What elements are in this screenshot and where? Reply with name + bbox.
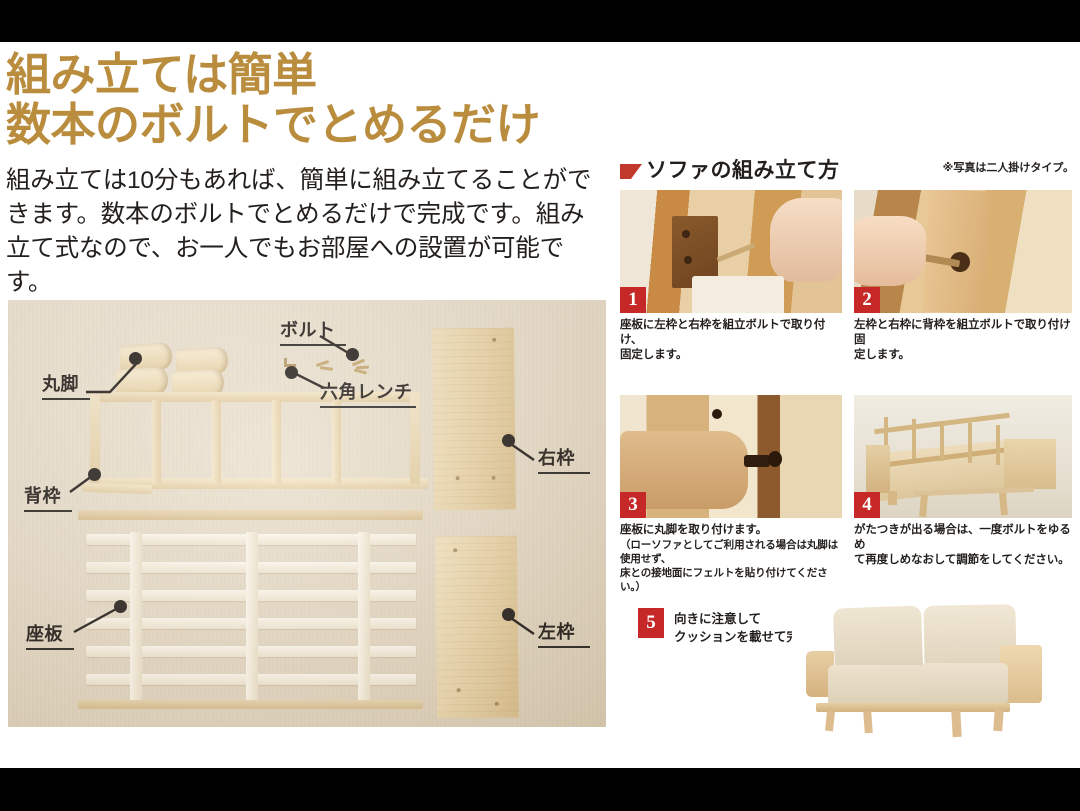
step-1-caption-line-1: 座板に左枠と右枠を組立ボルトで取り付け、 xyxy=(620,318,842,348)
step-2-caption-line-2: 定します。 xyxy=(854,348,1072,363)
step-1-badge: 1 xyxy=(620,287,646,313)
bolt-part xyxy=(354,368,367,374)
steps-section-note: ※写真は二人掛けタイプ。 xyxy=(943,159,1074,175)
assembly-step-2: 2 左枠と右枠に背枠を組立ボルトで取り付け固 定します。 xyxy=(854,190,1072,363)
step-2-caption-line-1: 左枠と右枠に背枠を組立ボルトで取り付け固 xyxy=(854,318,1072,348)
left-column: 組み立ては簡単 数本のボルトでとめるだけ 組み立ては10分もあれば、簡単に組み立… xyxy=(0,42,612,768)
step-4-caption-line-1: がたつきが出る場合は、一度ボルトをゆるめ xyxy=(854,523,1072,553)
step-1-caption: 座板に左枠と右枠を組立ボルトで取り付け、 固定します。 xyxy=(620,318,842,363)
step-2-photo: 2 xyxy=(854,190,1072,313)
callout-label-text: 背枠 xyxy=(24,486,61,506)
leader-dot-bolt xyxy=(346,348,359,361)
step-3-caption-note-line-1: （ローソファとしてご利用される場合は丸脚は使用せず、 xyxy=(620,538,842,566)
step-2-caption: 左枠と右枠に背枠を組立ボルトで取り付け固 定します。 xyxy=(854,318,1072,363)
assembly-step-4: 4 がたつきが出る場合は、一度ボルトをゆるめ て再度しめなおして調節をしてくださ… xyxy=(854,395,1072,568)
callout-label-text: 右枠 xyxy=(538,448,575,468)
leader-dot-left-frame xyxy=(502,608,515,621)
left-frame-part xyxy=(435,536,519,719)
callout-left-frame: 左枠 xyxy=(538,618,575,644)
callout-label-text: 左枠 xyxy=(538,622,575,642)
assembly-step-3: 3 座板に丸脚を取り付けます。 （ローソファとしてご利用される場合は丸脚は使用せ… xyxy=(620,395,842,594)
steps-section-title: ソファの組み立て方 xyxy=(620,154,840,184)
seat-board-part xyxy=(78,528,423,714)
leader-dot-seat-board xyxy=(114,600,127,613)
headline-line-1: 組み立ては簡単 xyxy=(6,50,317,100)
content-sheet: 組み立ては簡単 数本のボルトでとめるだけ 組み立ては10分もあれば、簡単に組み立… xyxy=(0,42,1080,768)
leader-dot-round-legs xyxy=(129,352,142,365)
step-3-photo: 3 xyxy=(620,395,842,518)
leader-line-hex-wrench xyxy=(292,372,332,394)
leader-dot-hex-wrench xyxy=(285,366,298,379)
step-4-photo: 4 xyxy=(854,395,1072,518)
triangle-down-icon xyxy=(620,164,642,179)
lead-paragraph: 組み立ては10分もあれば、簡単に組み立てることができます。数本のボルトでとめるだ… xyxy=(6,164,606,300)
step-2-badge: 2 xyxy=(854,287,880,313)
assembly-step-1: 1 座板に左枠と右枠を組立ボルトで取り付け、 固定します。 xyxy=(620,190,842,363)
leader-dot-right-frame xyxy=(502,434,515,447)
step-3-caption-line-1: 座板に丸脚を取り付けます。 xyxy=(620,523,842,538)
callout-label-text: 六角レンチ xyxy=(320,382,413,402)
step-3-badge: 3 xyxy=(620,492,646,518)
step-4-caption-line-2: て再度しめなおして調節をしてください。 xyxy=(854,553,1072,568)
callout-label-text: 座板 xyxy=(26,624,63,644)
step-4-caption: がたつきが出る場合は、一度ボルトをゆるめ て再度しめなおして調節をしてください。 xyxy=(854,523,1072,568)
assembly-instruction-page: 組み立ては簡単 数本のボルトでとめるだけ 組み立ては10分もあれば、簡単に組み立… xyxy=(0,0,1080,811)
step-1-caption-line-2: 固定します。 xyxy=(620,348,842,363)
exploded-parts-photo: 丸脚 ボルト 六角レンチ xyxy=(8,300,606,727)
steps-section-title-text: ソファの組み立て方 xyxy=(646,159,840,182)
callout-hex-wrench: 六角レンチ xyxy=(320,378,413,404)
callout-right-frame: 右枠 xyxy=(538,444,575,470)
leader-dot-back-frame xyxy=(88,468,101,481)
letterbox-top xyxy=(0,0,1080,42)
letterbox-bottom xyxy=(0,768,1080,811)
step-3-caption: 座板に丸脚を取り付けます。 （ローソファとしてご利用される場合は丸脚は使用せず、… xyxy=(620,523,842,594)
headline-line-2: 数本のボルトでとめるだけ xyxy=(6,100,540,150)
right-frame-part xyxy=(432,328,516,511)
step-4-badge: 4 xyxy=(854,492,880,518)
callout-seat-board: 座板 xyxy=(26,620,63,646)
step-1-photo: 1 xyxy=(620,190,842,313)
step-3-caption-note-line-2: 床との接地面にフェルトを貼り付けてください。） xyxy=(620,566,842,594)
callout-back-frame: 背枠 xyxy=(24,482,61,508)
step-5-badge: 5 xyxy=(638,608,664,638)
callout-round-legs: 丸脚 xyxy=(42,370,79,396)
step-5-photo xyxy=(792,599,1080,739)
bolt-part xyxy=(320,366,333,371)
right-column: ソファの組み立て方 ※写真は二人掛けタイプ。 1 座板に左枠と右枠を組立ボルトで… xyxy=(612,42,1080,768)
callout-label-text: 丸脚 xyxy=(42,374,79,394)
